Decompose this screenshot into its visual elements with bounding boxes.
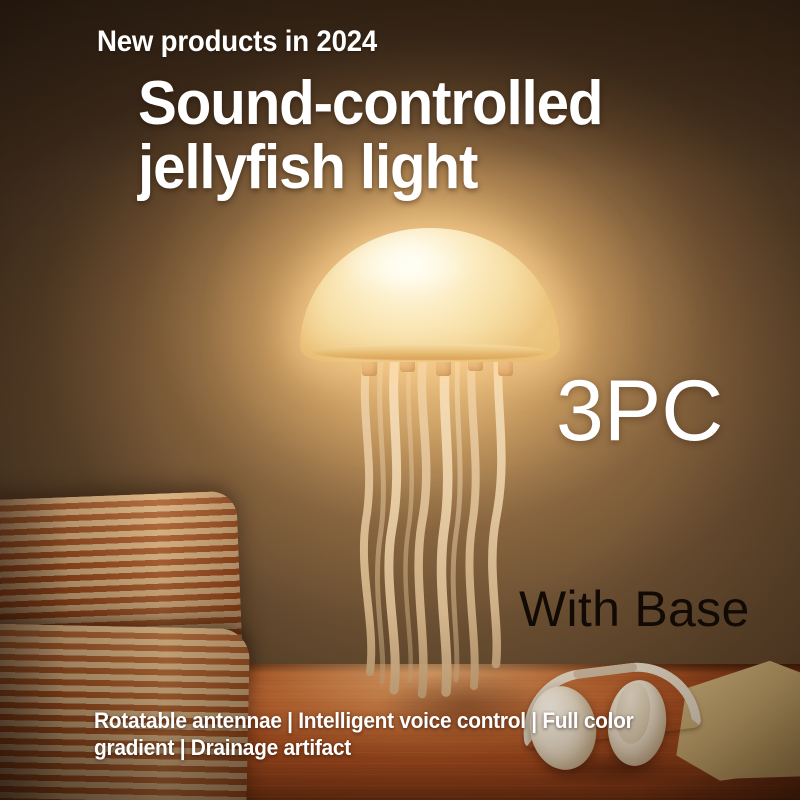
feature-list-text: Rotatable antennae | Intelligent voice c… — [94, 707, 710, 761]
lamp-dome-rim — [312, 344, 548, 360]
headline-line-1: Sound-controlled — [138, 72, 602, 136]
product-poster: New products in 2024 Sound-controlled je… — [0, 0, 800, 800]
headline-line-2: jellyfish light — [138, 136, 602, 200]
eyebrow-text: New products in 2024 — [97, 25, 377, 59]
lamp-tentacles — [296, 342, 564, 702]
quantity-badge: 3PC — [556, 368, 723, 454]
page-title: Sound-controlled jellyfish light — [138, 72, 602, 201]
lamp-dome-highlight — [348, 240, 468, 294]
with-base-badge: With Base — [519, 584, 750, 634]
